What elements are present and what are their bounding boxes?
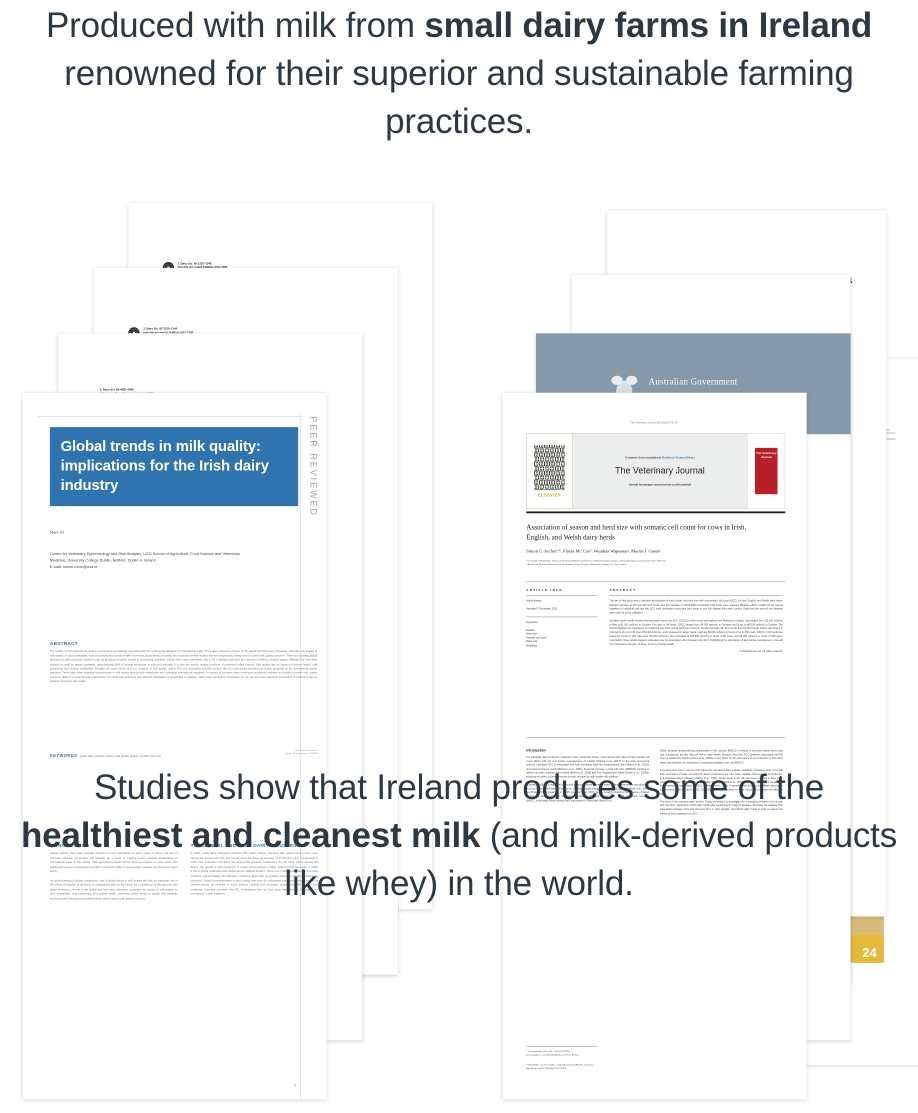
keywords-label: KEYWORDS xyxy=(50,754,77,758)
divider xyxy=(526,595,597,596)
paper-title: Global trends in milk quality: implicati… xyxy=(50,427,298,506)
footnote-block: * Corresponding author. Tel.: +44 1159 5… xyxy=(526,1046,645,1071)
article-history-label: Article history: xyxy=(526,599,597,603)
divider xyxy=(526,737,785,738)
abstract-section: ABSTRACT The quality of Irish agricultur… xyxy=(50,641,317,684)
cover-title: The Veterinary Journal xyxy=(755,451,778,459)
issn-line: 1090-0233/$ - see front matter © 2012 El… xyxy=(526,1063,645,1071)
divider xyxy=(526,617,597,618)
keywords-value: global dairy industry, Ireland, milk qua… xyxy=(80,754,161,757)
divider xyxy=(609,595,782,596)
journal-homepage[interactable]: journal homepage: www.elsevier.com/locat… xyxy=(629,483,691,486)
paper-author: More SJ xyxy=(50,530,64,534)
abstract-heading: ABSTRACT xyxy=(609,589,782,593)
sciencedirect-link[interactable]: SciVerse ScienceDirect xyxy=(662,456,695,460)
divider xyxy=(526,1046,597,1047)
abstract-body: The aim of this study was to describe as… xyxy=(609,599,782,646)
government-banner-text: Australian Government xyxy=(649,377,738,387)
journal-masthead-center: Contents lists available at SciVerse Sci… xyxy=(573,433,748,509)
promotional-graphic: Produced with milk from small dairy farm… xyxy=(0,0,918,921)
paper-affiliation: Centre for Veterinary Epidemiology and R… xyxy=(50,551,246,571)
veterinary-journal-paper[interactable]: The Veterinary Journal 196 (2013) 373–37… xyxy=(503,393,807,1100)
top-headline-part2: renowned for their superior and sustaina… xyxy=(64,54,853,141)
vet-paper-authors: Simon C. Archerᵃ,*, Finola Mc Coyᵇ, Wend… xyxy=(526,548,660,553)
bottom-headline-bold: healthiest and cleanest milk xyxy=(21,816,480,855)
band-number: 24 xyxy=(862,945,877,960)
abstract-section: ABSTRACT The aim of this study was to de… xyxy=(609,589,782,654)
elsevier-wordmark: ELSEVIER xyxy=(538,493,561,497)
divider xyxy=(38,416,302,417)
keywords-values: Season Herd size Somatic cell count Dair… xyxy=(526,628,597,647)
top-headline-part1: Produced with milk from xyxy=(46,6,424,45)
journal-masthead: ELSEVIER Contents lists available at Sci… xyxy=(526,433,785,509)
article-history-value: Accepted 7 December 2012 xyxy=(526,607,597,611)
keywords-section: KEYWORDS global dairy industry, Ireland,… xyxy=(50,749,317,760)
journal-cover-thumb: The Veterinary Journal xyxy=(747,433,785,509)
divider xyxy=(526,582,785,583)
elsevier-tree-icon xyxy=(534,445,565,490)
keywords-label: Keywords: xyxy=(526,621,597,625)
article-info-heading: ARTICLE INFO xyxy=(526,589,597,593)
divider xyxy=(526,511,785,512)
main-paper-global-trends[interactable]: PEER REVIEWED Global trends in milk qual… xyxy=(23,393,327,1100)
document-collage: J. Dairy Sci. 95:1337–1348 http://dx.doi… xyxy=(0,180,918,740)
copyright-line: © 2012 Elsevier Ltd. All rights reserved… xyxy=(609,650,782,654)
top-headline-bold: small dairy farms in Ireland xyxy=(424,6,872,45)
journal-name: The Veterinary Journal xyxy=(615,466,705,476)
bottom-headline: Studies show that Ireland produces some … xyxy=(0,764,918,908)
abstract-body: The quality of Irish agricultural produc… xyxy=(50,649,317,683)
abstract-heading: ABSTRACT xyxy=(50,641,317,646)
top-headline: Produced with milk from small dairy farm… xyxy=(0,2,918,146)
page-number: 5 xyxy=(294,1084,296,1088)
corresponding-author-note: * Corresponding author. Tel.: +44 1159 5… xyxy=(526,1049,645,1057)
elsevier-logo: ELSEVIER xyxy=(526,433,572,509)
vet-paper-affiliations: ᵃ University of Nottingham, School of Ve… xyxy=(526,559,764,566)
vet-paper-title: Association of season and herd size with… xyxy=(526,522,771,542)
article-info-section: ARTICLE INFO Article history: Accepted 7… xyxy=(526,589,597,651)
peer-reviewed-label: PEER REVIEWED xyxy=(308,416,318,517)
running-head: The Veterinary Journal 196 (2013) 373–37… xyxy=(503,421,807,424)
bottom-headline-part1: Studies show that Ireland produces some … xyxy=(94,768,824,807)
journal-stamp: Irish Veterinary Journal Volume 62 Suppl… xyxy=(285,749,317,755)
sciencedirect-line: Contents lists available at SciVerse Sci… xyxy=(625,456,695,460)
introduction-heading: Introduction xyxy=(526,749,649,753)
